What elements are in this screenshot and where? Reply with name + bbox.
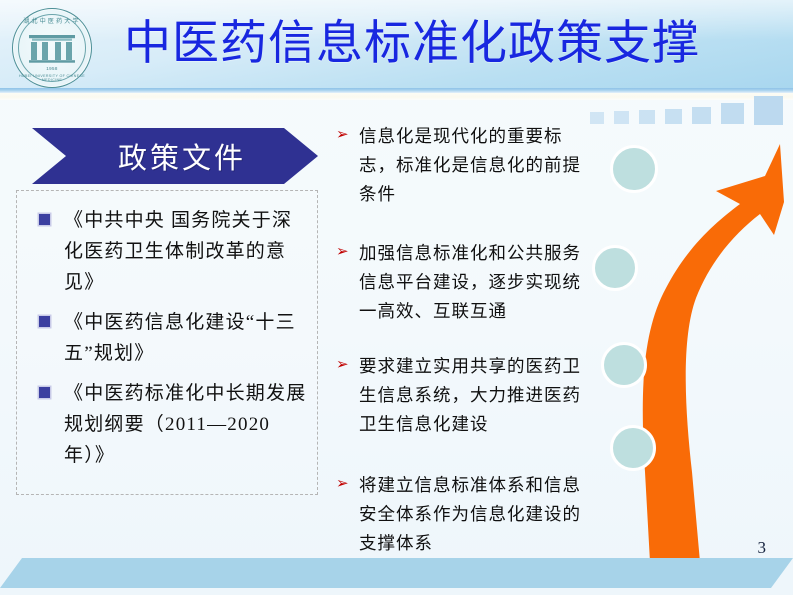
policy-points-list: ➢ 信息化是现代化的重要标志，标准化是信息化的前提条件 ➢ 加强信息标准化和公共… [336,122,604,576]
university-seal-logo: 湖北中医药大学 1958 HUBEI UNIVERSITY OF CHINESE… [12,8,92,88]
footer-bar [0,558,793,588]
arrow-bullet-icon: ➢ [336,129,350,139]
growth-arrow-graphic [588,92,793,562]
policy-document-label: 《中医药标准化中长期发展规划纲要（2011—2020年）》 [64,378,307,471]
square-bullet-icon [39,316,50,327]
section-banner-policy-documents: 政策文件 [32,128,318,184]
milestone-dot-4 [610,425,656,471]
square-bullet-icon [39,387,50,398]
arrow-bullet-icon: ➢ [336,478,350,488]
square-bullet-icon [39,214,50,225]
policy-point-label: 要求建立实用共享的医药卫生信息系统，大力推进医药卫生信息化建设 [359,352,591,439]
policy-point-label: 将建立信息标准体系和信息安全体系作为信息化建设的支撑体系 [359,471,591,558]
milestone-dot-3 [601,342,647,388]
seal-arc-bottom-text: HUBEI UNIVERSITY OF CHINESE MEDICINE [13,74,91,82]
list-item: ➢ 加强信息标准化和公共服务信息平台建设，逐步实现统一高效、互联互通 [336,239,604,326]
list-item: ➢ 要求建立实用共享的医药卫生信息系统，大力推进医药卫生信息化建设 [336,352,604,439]
list-item: 《中医药标准化中长期发展规划纲要（2011—2020年）》 [27,378,307,471]
policy-point-label: 加强信息标准化和公共服务信息平台建设，逐步实现统一高效、互联互通 [359,239,591,326]
slide-canvas: 湖北中医药大学 1958 HUBEI UNIVERSITY OF CHINESE… [0,0,793,595]
policy-point-label: 信息化是现代化的重要标志，标准化是信息化的前提条件 [359,122,591,209]
list-item: ➢ 信息化是现代化的重要标志，标准化是信息化的前提条件 [336,122,604,209]
milestone-dot-1 [610,145,658,193]
seal-arc-top-text: 湖北中医药大学 [13,16,91,25]
milestone-dot-2 [592,245,638,291]
page-number: 3 [758,538,767,558]
page-title: 中医药信息标准化政策支撑 [124,11,700,77]
policy-document-label: 《中共中央 国务院关于深化医药卫生体制改革的意见》 [64,205,307,298]
list-item: 《中共中央 国务院关于深化医药卫生体制改革的意见》 [27,205,307,298]
policy-document-label: 《中医药信息化建设“十三五”规划》 [64,307,307,369]
arrow-bullet-icon: ➢ [336,246,350,256]
seal-year-text: 1958 [13,66,91,71]
policy-documents-box: 《中共中央 国务院关于深化医药卫生体制改革的意见》 《中医药信息化建设“十三五”… [16,190,318,495]
seal-gate-icon [29,35,75,63]
list-item: ➢ 将建立信息标准体系和信息安全体系作为信息化建设的支撑体系 [336,471,604,558]
section-banner-label: 政策文件 [104,135,246,177]
list-item: 《中医药信息化建设“十三五”规划》 [27,307,307,369]
arrow-bullet-icon: ➢ [336,359,350,369]
